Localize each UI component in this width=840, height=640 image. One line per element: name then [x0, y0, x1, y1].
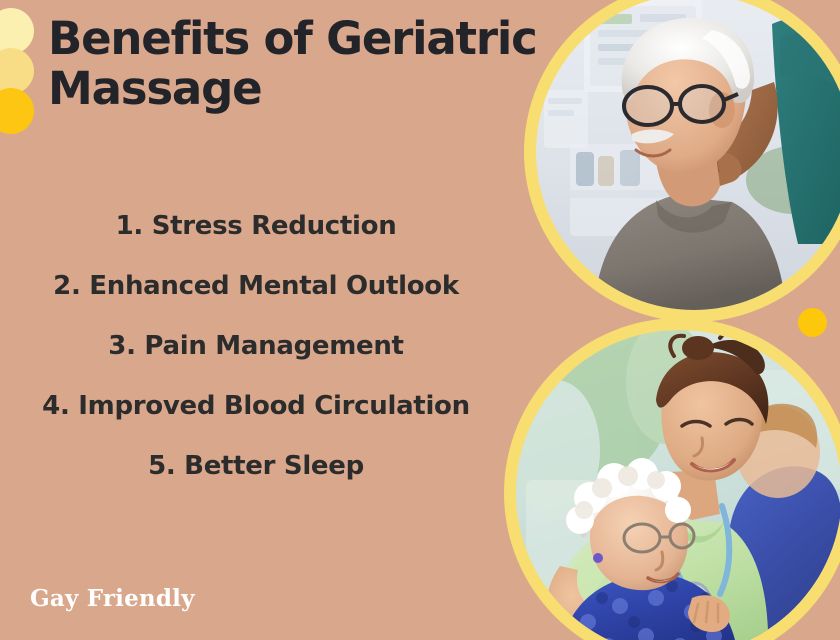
- list-item: 4. Improved Blood Circulation: [0, 376, 512, 436]
- poster-canvas: Benefits of Geriatric Massage 1. Stress …: [0, 0, 840, 640]
- decorative-dot-light-yellow: [0, 48, 34, 94]
- decorative-dot-cream: [0, 8, 34, 54]
- brand-wordmark: Gay Friendly: [30, 585, 195, 612]
- page-title-line-1: Benefits of Geriatric: [48, 14, 548, 64]
- page-title-line-2: Massage: [48, 64, 548, 114]
- list-item: 2. Enhanced Mental Outlook: [0, 256, 512, 316]
- page-title: Benefits of Geriatric Massage: [48, 14, 548, 114]
- photo-senior-man-massage-inner: [536, 0, 840, 310]
- photo-nurse-elderly-woman-inner: [516, 330, 840, 640]
- list-item: 5. Better Sleep: [0, 436, 512, 496]
- photo-nurse-elderly-woman: [516, 330, 840, 640]
- photo-senior-man-massage-illustration: [536, 0, 840, 310]
- benefits-list: 1. Stress Reduction 2. Enhanced Mental O…: [0, 196, 512, 496]
- list-item: 1. Stress Reduction: [0, 196, 512, 256]
- photo-senior-man-massage: [536, 0, 840, 310]
- list-item: 3. Pain Management: [0, 316, 512, 376]
- photo-nurse-elderly-woman-illustration: [516, 330, 840, 640]
- decorative-dot-golden: [0, 88, 34, 134]
- decorative-accent-dot: [798, 308, 827, 337]
